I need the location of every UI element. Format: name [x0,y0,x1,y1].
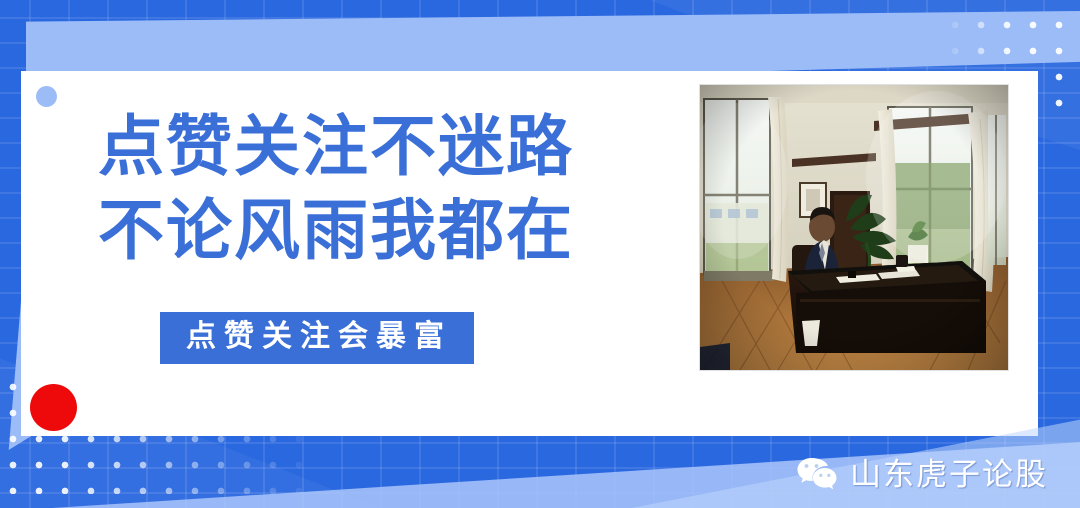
office-photo [700,85,1008,370]
wechat-icon-glyph [796,456,838,492]
office-photo-illustration [700,85,1008,370]
promo-banner: 点赞关注不迷路 不论风雨我都在 点赞关注会暴富 [0,0,1080,508]
headline-block: 点赞关注不迷路 不论风雨我都在 [98,104,658,272]
pale-blue-dot-icon [36,86,57,107]
headline-line-1: 点赞关注不迷路 [98,104,658,188]
wechat-icon [796,456,838,492]
wechat-account-name: 山东虎子论股 [850,459,1048,490]
wechat-account[interactable]: 山东虎子论股 [796,456,1048,492]
subtitle-badge[interactable]: 点赞关注会暴富 [160,312,474,364]
headline-line-2: 不论风雨我都在 [98,188,658,272]
red-circle-icon [30,384,77,431]
